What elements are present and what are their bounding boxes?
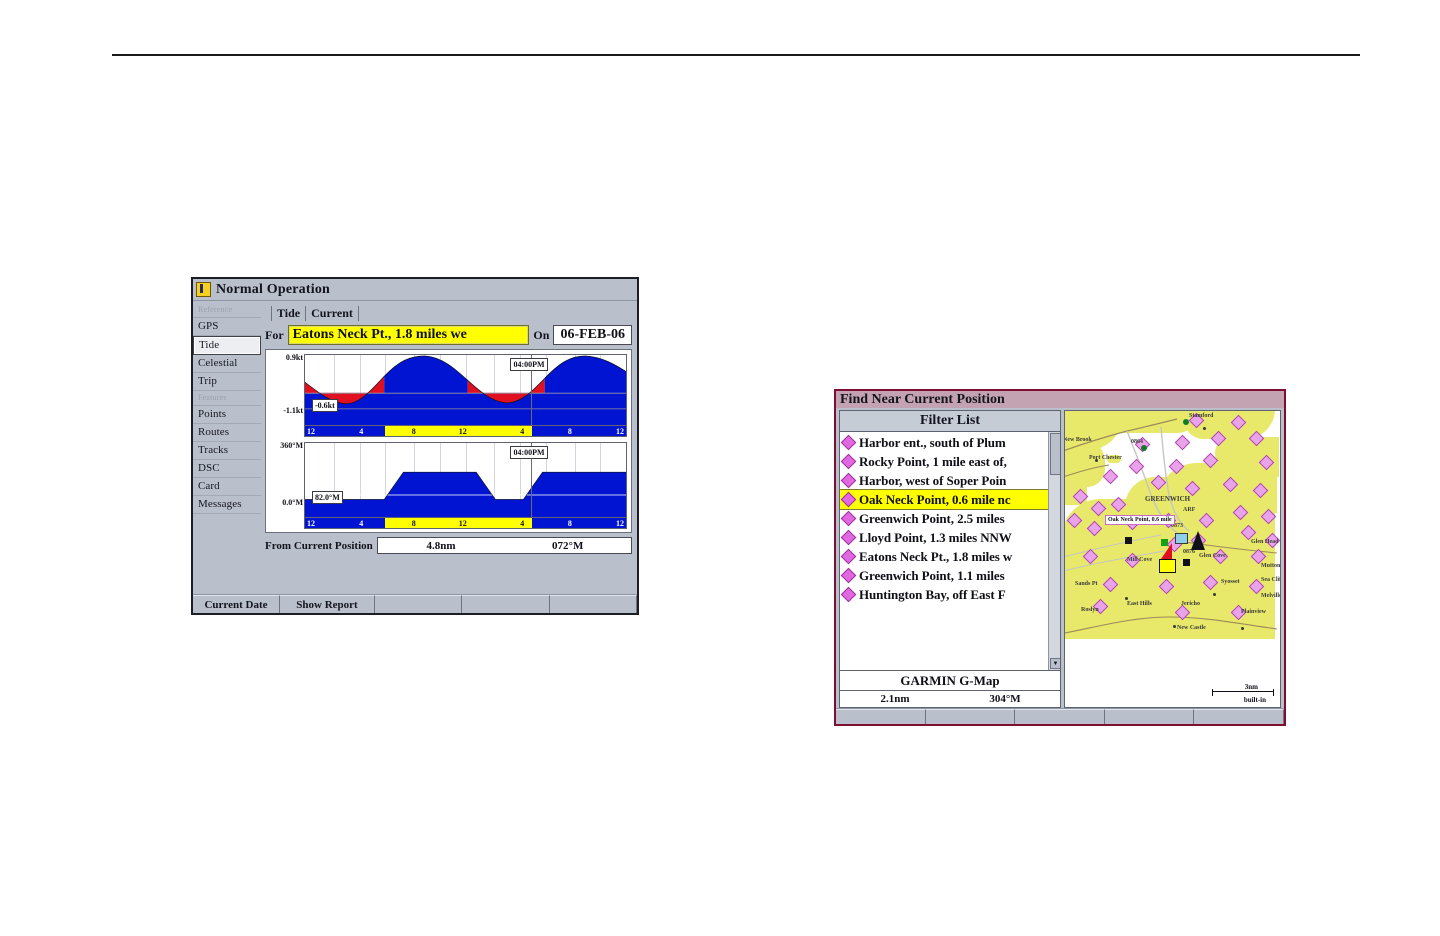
sidebar-item-celestial[interactable]: Celestial <box>193 355 261 373</box>
map-label-greenwich: GREENWICH <box>1145 495 1190 503</box>
map-source-label: GARMIN G-Map <box>840 671 1060 691</box>
results-rows: Harbor ent., south of Plum Rocky Point, … <box>840 432 1060 604</box>
scrollbar-thumb[interactable] <box>1050 433 1060 475</box>
filter-list-header: Filter List <box>840 411 1060 432</box>
tide-station-icon <box>841 473 857 489</box>
results-listbox[interactable]: Harbor ent., south of Plum Rocky Point, … <box>840 432 1060 671</box>
tide-station-icon <box>841 435 857 451</box>
for-label: For <box>265 328 284 343</box>
speed-chart: 0.9kt -1.1kt <box>270 354 627 426</box>
from-current-position-row: From Current Position 4.8nm 072°M <box>265 537 632 554</box>
direction-time-callout: 04:00PM <box>510 446 547 459</box>
map-label-new-castle: New Castle <box>1177 625 1206 631</box>
softkey-bar: Current Date Show Report <box>193 594 637 613</box>
window-title: Normal Operation <box>216 282 330 298</box>
map-label-syosset: Syosset <box>1221 579 1240 585</box>
map-scale-label: 3nm <box>1245 683 1258 691</box>
from-current-position-values: 4.8nm 072°M <box>377 537 632 554</box>
sidebar-item-dsc[interactable]: DSC <box>193 460 261 478</box>
list-scrollbar[interactable]: ▼ <box>1048 432 1060 670</box>
direction-plot: 82.0°M 04:00PM <box>304 442 627 518</box>
chart-map[interactable]: Stamford Port Chester GREENWICH 0864 087… <box>1064 410 1281 708</box>
find-softkey-1[interactable] <box>836 709 926 724</box>
speed-y-axis: 0.9kt -1.1kt <box>270 354 304 426</box>
map-marker-square-black-2 <box>1183 559 1190 566</box>
selected-bearing: 304°M <box>950 693 1060 705</box>
map-marker-square-black <box>1125 537 1132 544</box>
map-label-stamford: Stamford <box>1189 413 1213 419</box>
list-item-label: Harbor ent., south of Plum <box>859 435 1006 451</box>
list-item-label: Lloyd Point, 1.3 miles NNW <box>859 530 1012 546</box>
softkey-5[interactable] <box>550 595 637 613</box>
list-item-label: Greenwich Point, 1.1 miles <box>859 568 1005 584</box>
bearing-value: 072°M <box>504 540 631 552</box>
tide-station-icon <box>841 530 857 546</box>
selected-distance: 2.1nm <box>840 693 950 705</box>
find-body: Filter List Harbor ent., south of Plum R… <box>836 408 1284 708</box>
sidebar-group-reference: Reference <box>193 303 261 318</box>
on-label: On <box>533 328 549 343</box>
find-softkey-2[interactable] <box>926 709 1016 724</box>
map-current-arrow <box>1161 543 1172 559</box>
tide-station-icon <box>841 568 857 584</box>
tab-current[interactable]: Current <box>306 306 359 321</box>
direction-y-bottom-label: 0.0°M <box>282 498 303 507</box>
map-label-arf: ARF <box>1183 507 1195 513</box>
filter-list-pane: Filter List Harbor ent., south of Plum R… <box>839 410 1061 708</box>
map-label-mill-cove: Mill Cove <box>1127 557 1152 563</box>
map-label-glen-cove: Glen Cove <box>1199 553 1226 559</box>
find-near-current-position-window: Find Near Current Position Filter List H… <box>834 389 1286 726</box>
tide-station-icon <box>841 549 857 565</box>
list-item[interactable]: Greenwich Point, 2.5 miles <box>840 509 1060 528</box>
direction-y-axis: 360°M 0.0°M <box>270 442 304 518</box>
direction-area <box>305 443 626 517</box>
list-item[interactable]: Huntington Bay, off East F <box>840 585 1060 604</box>
direction-y-top-label: 360°M <box>280 441 303 450</box>
sidebar-item-tide[interactable]: Tide <box>193 336 261 355</box>
tab-tide[interactable]: Tide <box>271 306 306 321</box>
list-item[interactable]: Lloyd Point, 1.3 miles NNW <box>840 528 1060 547</box>
tide-station-icon <box>841 454 857 470</box>
list-item[interactable]: Eatons Neck Pt., 1.8 miles w <box>840 547 1060 566</box>
list-item-label: Harbor, west of Soper Poin <box>859 473 1006 489</box>
list-item[interactable]: Harbor, west of Soper Poin <box>840 471 1060 490</box>
window-body: Reference GPS Tide Celestial Trip Featur… <box>193 301 637 595</box>
map-scale-source: built-in <box>1244 696 1266 704</box>
sidebar-item-card[interactable]: Card <box>193 478 261 496</box>
distance-value: 4.8nm <box>378 540 505 552</box>
list-item[interactable]: Greenwich Point, 1.1 miles <box>840 566 1060 585</box>
list-item-label: Rocky Point, 1 mile east of, <box>859 454 1007 470</box>
map-label-new-brook: New Brook <box>1064 437 1092 443</box>
map-label-east-hills: East Hills <box>1127 601 1152 607</box>
map-label-port-chester: Port Chester <box>1089 455 1122 461</box>
graph-area: 0.9kt -1.1kt <box>265 349 632 533</box>
map-label-roslyn: Roslyn <box>1081 607 1099 613</box>
find-titlebar: Find Near Current Position <box>836 391 1284 408</box>
list-item-label: Greenwich Point, 2.5 miles <box>859 511 1005 527</box>
map-label-jericho: Jericho <box>1181 601 1200 607</box>
map-label-melville: Melville <box>1261 593 1281 599</box>
list-item-label: Huntington Bay, off East F <box>859 587 1006 603</box>
find-softkey-bar <box>836 708 1284 724</box>
map-label-muttontown: Muttontown <box>1261 563 1281 569</box>
find-softkey-5[interactable] <box>1194 709 1284 724</box>
speed-curve <box>305 355 626 425</box>
sidebar-group-features: Features <box>193 391 261 406</box>
softkey-4[interactable] <box>462 595 549 613</box>
from-current-position-label: From Current Position <box>265 540 373 552</box>
direction-chart: 360°M 0.0°M <box>270 442 627 518</box>
list-item[interactable]: Rocky Point, 1 mile east of, <box>840 452 1060 471</box>
window-titlebar: Normal Operation <box>193 279 637 301</box>
map-selected-station-marker[interactable] <box>1159 559 1176 573</box>
sidebar-item-trip[interactable]: Trip <box>193 373 261 391</box>
speed-time-callout: 04:00PM <box>510 358 547 371</box>
list-item-label: Oak Neck Point, 0.6 mile nc <box>859 492 1011 508</box>
station-field[interactable]: Eatons Neck Pt., 1.8 miles we <box>288 325 530 345</box>
speed-value-callout: -0.6kt <box>312 399 338 412</box>
map-label-0864: 0864 <box>1131 439 1143 445</box>
sidebar-item-tracks[interactable]: Tracks <box>193 442 261 460</box>
softkey-3[interactable] <box>375 595 462 613</box>
normal-operation-window: Normal Operation Reference GPS Tide Cele… <box>191 277 639 615</box>
direction-time-axis: 124 8124 812 <box>304 518 627 529</box>
station-selector-row: For Eatons Neck Pt., 1.8 miles we On 06-… <box>265 325 632 345</box>
speed-plot: -0.6kt 04:00PM <box>304 354 627 426</box>
softkey-show-report[interactable]: Show Report <box>280 595 375 613</box>
list-item-selected[interactable]: Oak Neck Point, 0.6 mile nc <box>840 490 1060 509</box>
find-softkey-3[interactable] <box>1015 709 1105 724</box>
sidebar-item-messages[interactable]: Messages <box>193 496 261 514</box>
map-label-plainview: Plainview <box>1241 609 1266 615</box>
tide-station-icon <box>841 492 857 508</box>
tide-station-icon <box>841 511 857 527</box>
find-window-title: Find Near Current Position <box>840 392 1005 408</box>
list-item[interactable]: Harbor ent., south of Plum <box>840 433 1060 452</box>
list-item-label: Eatons Neck Pt., 1.8 miles w <box>859 549 1012 565</box>
map-label-sands-pt: Sands Pt <box>1075 581 1098 587</box>
content-pane: Tide Current For Eatons Neck Pt., 1.8 mi… <box>261 301 637 595</box>
speed-y-top-label: 0.9kt <box>286 353 303 362</box>
map-boat-marker <box>1191 531 1205 550</box>
direction-value-callout: 82.0°M <box>312 491 343 504</box>
sidebar-item-routes[interactable]: Routes <box>193 424 261 442</box>
softkey-current-date[interactable]: Current Date <box>193 595 280 613</box>
map-selection-callout: Oak Neck Point, 0.6 mile <box>1105 515 1175 525</box>
map-label-glen-head: Glen Head <box>1251 539 1279 545</box>
garmin-icon <box>196 282 211 297</box>
speed-y-bottom-label: -1.1kt <box>283 406 303 415</box>
page-horizontal-rule <box>112 54 1360 56</box>
sidebar-item-gps[interactable]: GPS <box>193 318 261 336</box>
date-field[interactable]: 06-FEB-06 <box>553 325 632 345</box>
speed-time-axis: 124 8124 812 <box>304 426 627 437</box>
tide-station-icon <box>841 587 857 603</box>
find-softkey-4[interactable] <box>1105 709 1195 724</box>
selected-item-stats: 2.1nm 304°M <box>840 691 1060 707</box>
sidebar: Reference GPS Tide Celestial Trip Featur… <box>193 301 261 595</box>
map-scale-bar <box>1212 691 1274 693</box>
sidebar-item-points[interactable]: Points <box>193 406 261 424</box>
scroll-down-arrow-icon[interactable]: ▼ <box>1050 658 1060 669</box>
map-label-sea-cliff: Sea Cliff <box>1261 577 1281 583</box>
tab-strip: Tide Current <box>265 304 632 321</box>
map-marker-photo <box>1175 533 1188 544</box>
